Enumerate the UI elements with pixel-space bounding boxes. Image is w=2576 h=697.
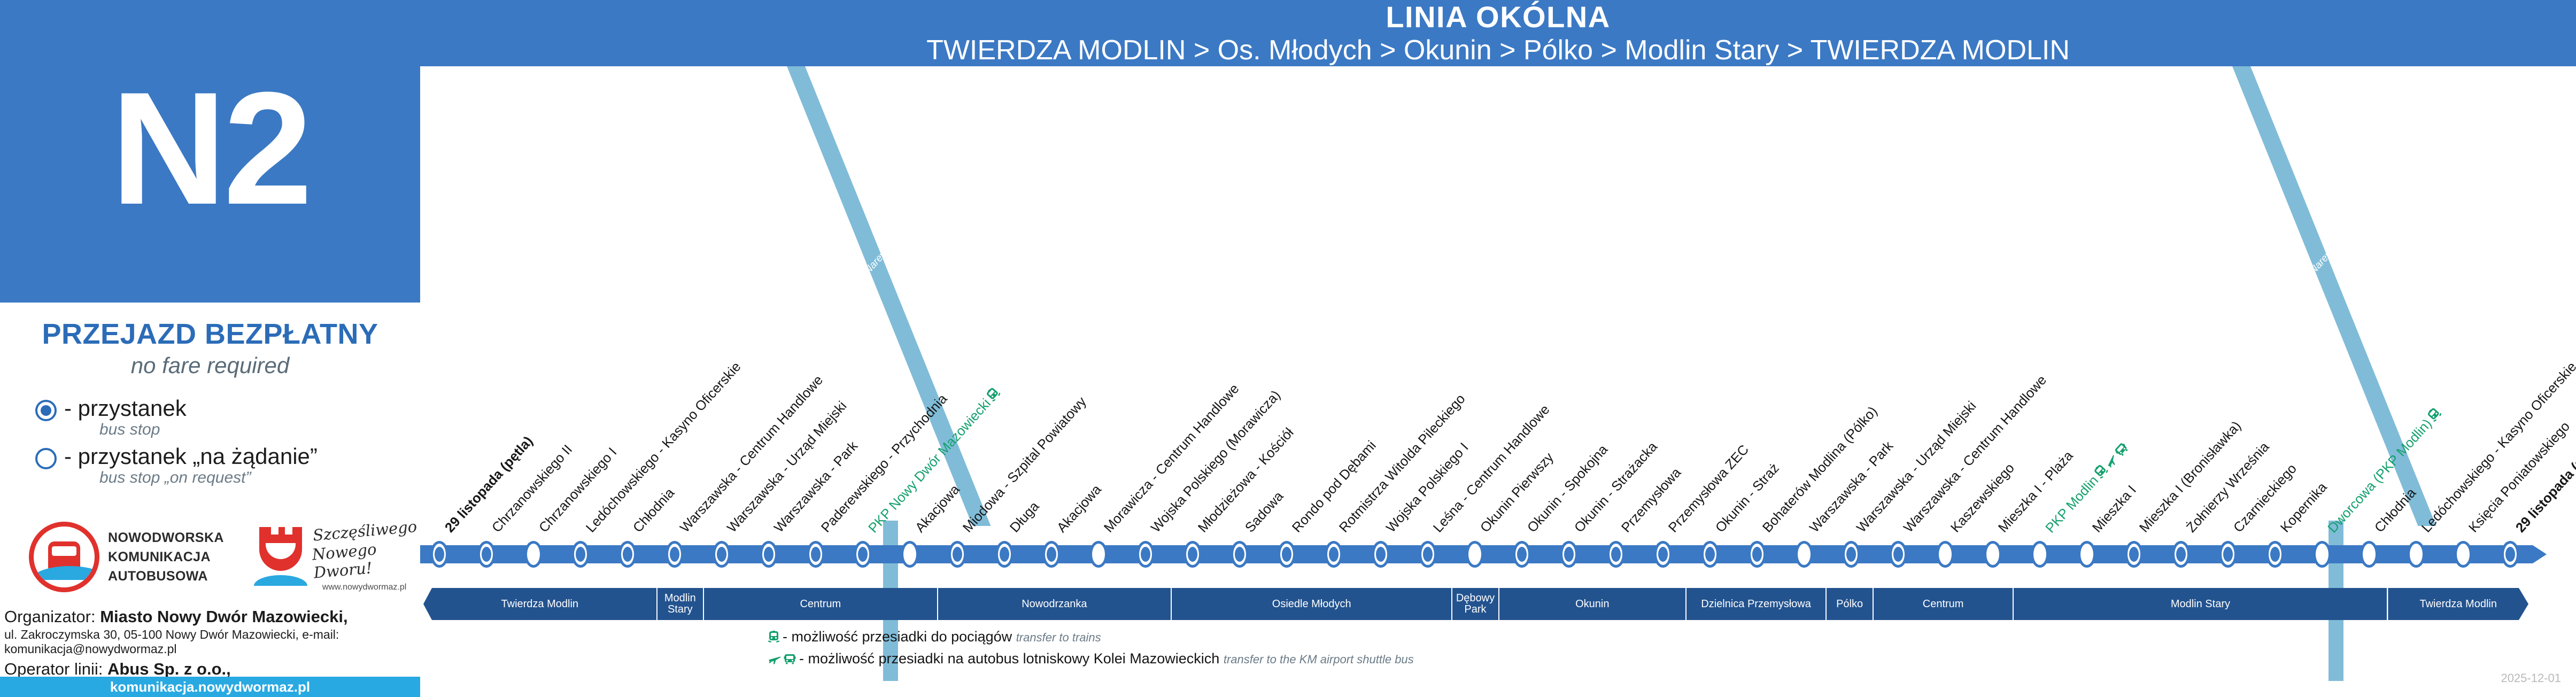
district-segment: Centrum [1874, 588, 2014, 620]
station-dot-regular[interactable] [1325, 541, 1343, 568]
line-header: LINIA OKÓLNA TWIERDZA MODLIN > Os. Młody… [420, 0, 2576, 66]
station-name: Akacjowa [912, 482, 963, 536]
station-label: Rondo pod Dębami [1290, 439, 1379, 535]
nka-line-1: NOWODWORSKA [108, 528, 224, 547]
station-name: 29 listopada (pętla) [442, 433, 536, 535]
station-dot-regular[interactable] [2266, 541, 2284, 568]
station-name: Młodzieżowa - Kościół [1195, 425, 1297, 535]
station-name: Wojska Polskiego I [1383, 440, 1472, 535]
district-segment: Modlin Stary [2014, 588, 2388, 620]
district-label: Twierdza Modlin [501, 599, 579, 610]
district-label: Osiedle Młodych [1272, 599, 1351, 610]
website-bar[interactable]: komunikacja.nowydwormaz.pl [0, 677, 420, 697]
on-request-stop-icon [35, 448, 57, 469]
city-logo: Szczęśliwego Nowego Dworu! www.nowydworm… [256, 522, 420, 592]
district-segment: Modlin Stary [657, 588, 705, 620]
station-label: PKP Modlin [2043, 440, 2131, 536]
regular-stop-icon [35, 400, 57, 421]
station-dot-regular[interactable] [571, 541, 590, 568]
route-description: TWIERDZA MODLIN > Os. Młodych > Okunin >… [926, 36, 2070, 64]
station-dot-regular[interactable] [666, 541, 684, 568]
transfer-legend-text: - możliwość przesiadki na autobus lotnis… [799, 650, 1414, 667]
station-label: Warszawska - Park [1808, 439, 1896, 536]
logos-row: NOWODWORSKA KOMUNIKACJA AUTOBUSOWA Szczę… [29, 522, 420, 592]
station-label: Przemysłowa ZEC [1667, 443, 1752, 535]
station-name: Chrzanowskiego II [489, 442, 575, 536]
free-fare-title: PRZEJAZD BEZPŁATNY [0, 317, 420, 351]
city-crest-icon [256, 527, 305, 587]
district-segment: Twierdza Modlin [2388, 588, 2528, 620]
on-request-stop-label-pl: - przystanek „na żądanie” [64, 445, 318, 468]
station-label: Okunin - Strażacka [1573, 440, 1660, 535]
route-number-badge: N2 [0, 0, 420, 303]
organizer-address: ul. Zakroczymska 30, 05-100 Nowy Dwór Ma… [4, 628, 421, 656]
district-label: Okunin [1575, 599, 1609, 610]
stop-type-legend: - przystanek bus stop - przystanek „na ż… [35, 397, 420, 487]
legend-row-regular-stop: - przystanek bus stop [35, 397, 420, 439]
station-dot-regular[interactable] [948, 541, 966, 568]
station-label: Akacjowa [914, 483, 963, 535]
transfer-legend-icons [765, 653, 796, 665]
station-dot-on-request[interactable] [1466, 541, 1484, 568]
station-name: Warszawska - Park [1807, 438, 1896, 535]
station-dot-regular[interactable] [477, 541, 496, 568]
district-segment: Dębowy Park [1452, 588, 1499, 620]
legend-row-on-request-stop: - przystanek „na żądanie” bus stop „on r… [35, 445, 420, 487]
station-label: Sadowa [1243, 490, 1286, 536]
regular-stop-label-en: bus stop [99, 420, 187, 439]
station-name: Mieszka I [2090, 483, 2139, 536]
station-dot-regular[interactable] [1654, 541, 1672, 568]
station-dot-regular[interactable] [2125, 541, 2143, 568]
station-dot-regular[interactable] [995, 541, 1014, 568]
station-name: Żołnierzy Września [2184, 439, 2272, 536]
station-dot-regular[interactable] [430, 541, 448, 568]
station-dot-regular[interactable] [1701, 541, 1719, 568]
station-name: Chłodnia [2372, 485, 2419, 536]
nka-line-2: KOMUNIKACJA [108, 547, 224, 567]
station-dot-regular[interactable] [1183, 541, 1202, 568]
district-label: Nowodrzanka [1022, 599, 1087, 610]
transit-line-diagram: N2 PRZEJAZD BEZPŁATNY no fare required -… [0, 0, 2576, 697]
station-label: Akacjowa [1055, 483, 1104, 535]
fare-info-panel: PRZEJAZD BEZPŁATNY no fare required - pr… [0, 303, 420, 677]
station-name: Kopernika [2278, 480, 2330, 536]
district-label: Modlin Stary [659, 593, 702, 615]
station-dot-regular[interactable] [2501, 541, 2519, 568]
station-dot-on-request[interactable] [2454, 541, 2472, 568]
route-number: N2 [111, 68, 310, 228]
district-segment: Osiedle Młodych [1172, 588, 1452, 620]
station-name: Rondo pod Dębami [1289, 438, 1379, 536]
operator-name: Abus Sp. z o.o., [107, 660, 231, 678]
station-dot-regular[interactable] [2172, 541, 2190, 568]
district-segment: Okunin [1499, 588, 1687, 620]
district-label: Dębowy Park [1454, 593, 1497, 615]
transfer-legend-text-en: transfer to the KM airport shuttle bus [1224, 653, 1414, 666]
district-label: Modlin Stary [2171, 599, 2230, 610]
page-title: LINIA OKÓLNA [1386, 2, 1610, 32]
station-label: Chłodnia [631, 486, 677, 535]
station-label: Wojska Polskiego I [1384, 440, 1471, 535]
nka-logo-text: NOWODWORSKA KOMUNIKACJA AUTOBUSOWA [108, 528, 224, 586]
station-label: Mieszka I [2090, 483, 2139, 535]
district-segment: Twierdza Modlin [423, 588, 657, 620]
free-fare-subtitle: no fare required [0, 353, 420, 378]
district-segment: Nowodrzanka [938, 588, 1172, 620]
station-label: Chrzanowskiego II [490, 443, 575, 535]
district-label: Centrum [1923, 599, 1964, 610]
bus-in-circle-icon [29, 522, 99, 592]
district-label: Pólko [1836, 599, 1863, 610]
station-dot-regular[interactable] [1231, 541, 1249, 568]
station-dot-on-request[interactable] [2407, 541, 2425, 568]
organizer-label: Organizator: [4, 607, 96, 626]
station-label: Młodzieżowa - Kościół [1196, 426, 1296, 536]
station-name: Warszawska - Park [771, 438, 861, 535]
district-segment: Centrum [704, 588, 938, 620]
station-dot-on-request[interactable] [2313, 541, 2331, 568]
station-dot-on-request[interactable] [2360, 541, 2378, 568]
transfer-legend-text-en: transfer to trains [1016, 631, 1101, 644]
station-dot-regular[interactable] [2219, 541, 2237, 568]
station-dot-regular[interactable] [1372, 541, 1390, 568]
transfer-legend-text: - możliwość przesiadki do pociągów trans… [783, 629, 1101, 645]
station-name: Chłodnia [630, 485, 677, 536]
transfer-legend-icons [765, 631, 779, 644]
district-label: Twierdza Modlin [2419, 599, 2497, 610]
on-request-stop-label-en: bus stop „on request” [99, 468, 318, 487]
transfer-legend-row: - możliwość przesiadki do pociągów trans… [765, 629, 1414, 645]
valid-from-date: 2025-12-01 [2501, 671, 2561, 685]
nka-logo: NOWODWORSKA KOMUNIKACJA AUTOBUSOWA [29, 522, 224, 592]
website-url: komunikacja.nowydwormaz.pl [110, 679, 310, 695]
city-slogan-url: www.nowydwormaz.pl [322, 583, 420, 592]
station-name: Akacjowa [1054, 482, 1104, 536]
bus-icon [784, 653, 796, 665]
station-dot-on-request[interactable] [1984, 541, 2002, 568]
station-label: 29 listopada (pętla) [443, 435, 536, 536]
station-dot-regular[interactable] [1419, 541, 1437, 568]
train-icon [768, 631, 779, 644]
station-name: Okunin - Strażacka [1572, 439, 1660, 536]
transfer-legend-row: - możliwość przesiadki na autobus lotnis… [765, 650, 1414, 667]
line-map: NarewNarew 29 listopada (pętla)Chrzanows… [420, 66, 2576, 697]
city-slogan: Szczęśliwego Nowego Dworu! www.nowydworm… [313, 522, 420, 592]
station-name: Przemysłowa ZEC [1666, 442, 1752, 536]
station-dot-regular[interactable] [1278, 541, 1296, 568]
station-label: Okunin - Spokojna [1526, 443, 1611, 535]
station-dot-on-request[interactable] [2031, 541, 2049, 568]
station-dot-regular[interactable] [1136, 541, 1155, 568]
station-dot-on-request[interactable] [2078, 541, 2096, 568]
station-name: Długa [1007, 499, 1042, 535]
plane-icon [768, 653, 781, 665]
district-label: Centrum [800, 599, 841, 610]
station-dot-regular[interactable] [1560, 541, 1578, 568]
station-dot-regular[interactable] [1042, 541, 1061, 568]
district-segment: Pólko [1827, 588, 1874, 620]
station-dot-on-request[interactable] [524, 541, 543, 568]
station-dot-regular[interactable] [1607, 541, 1625, 568]
station-label: Długa [1008, 500, 1042, 536]
regular-stop-label-pl: - przystanek [64, 397, 187, 420]
station-dot-regular[interactable] [1513, 541, 1531, 568]
station-name: Sadowa [1242, 489, 1286, 535]
station-dot-regular[interactable] [618, 541, 637, 568]
district-segment: Dzielnica Przemysłowa [1687, 588, 1827, 620]
route-line-arrow [2533, 545, 2547, 563]
station-label: Żołnierzy Września [2184, 440, 2272, 535]
district-label: Dzielnica Przemysłowa [1701, 599, 1811, 610]
organizer-name: Miasto Nowy Dwór Mazowiecki, [100, 607, 347, 626]
operator-label: Operator linii: [4, 660, 103, 678]
station-label: Kopernika [2278, 481, 2330, 535]
station-label: Warszawska - Park [772, 439, 861, 536]
station-name: Okunin - Spokojna [1525, 442, 1611, 536]
nka-line-3: AUTOBUSOWA [108, 567, 224, 586]
station-label: Chłodnia [2372, 486, 2418, 535]
transfer-legend: - możliwość przesiadki do pociągów trans… [765, 629, 1414, 672]
station-dot-on-request[interactable] [1089, 541, 1108, 568]
